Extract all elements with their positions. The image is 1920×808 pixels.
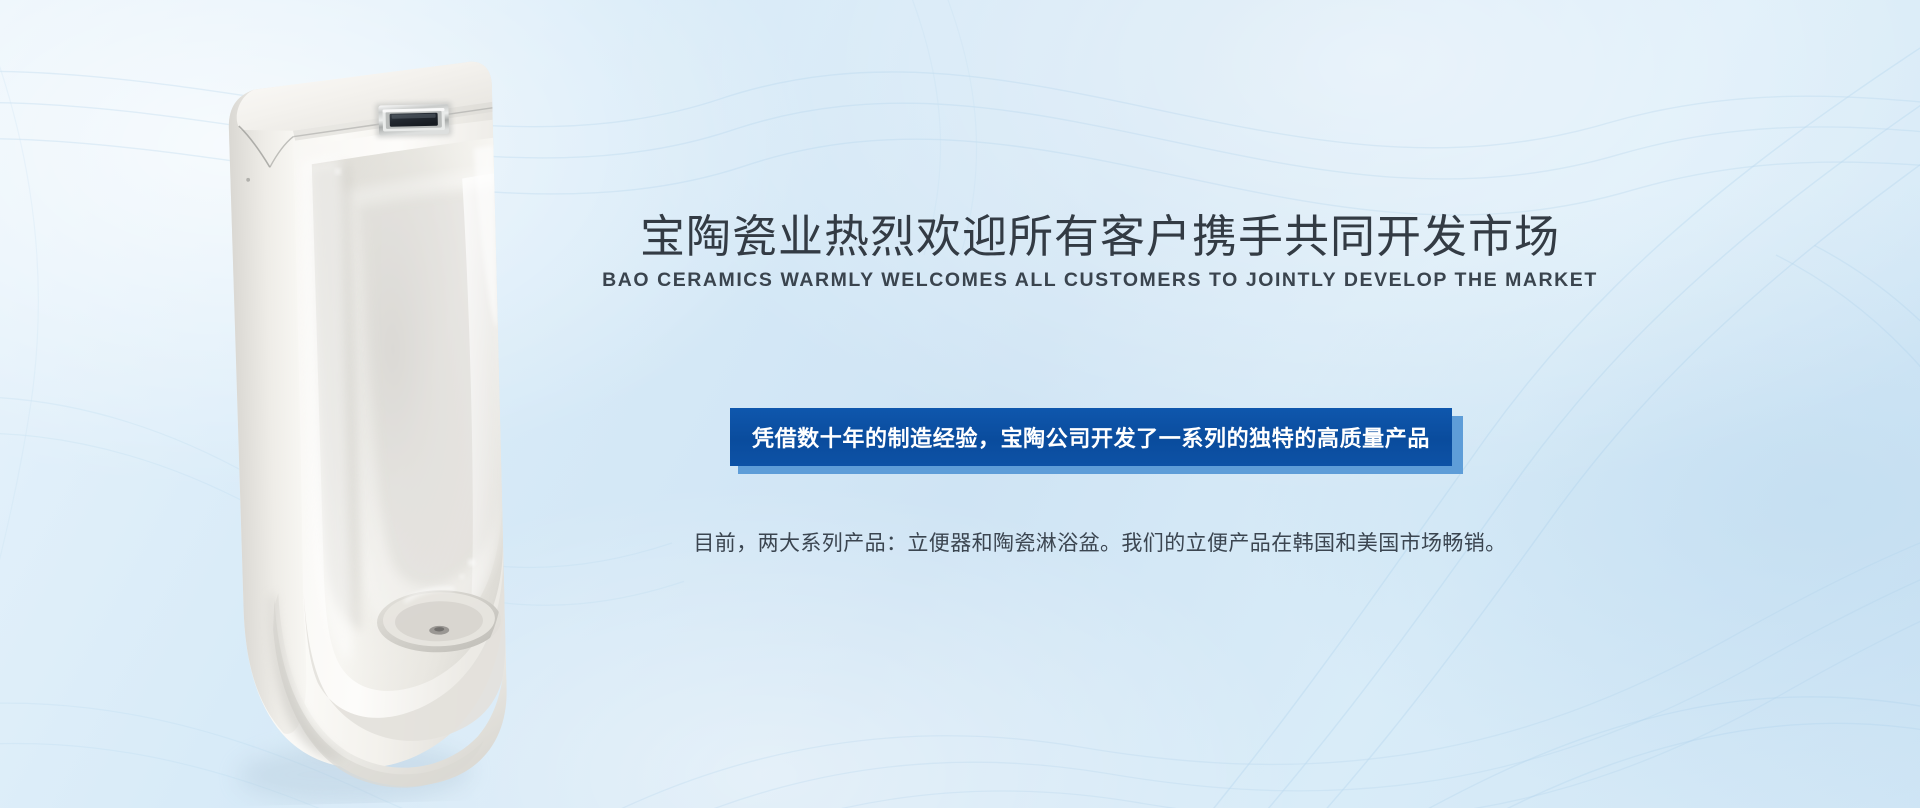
ribbon-label: 凭借数十年的制造经验，宝陶公司开发了一系列的独特的高质量产品 — [752, 421, 1430, 453]
highlight-ribbon: 凭借数十年的制造经验，宝陶公司开发了一系列的独特的高质量产品 — [730, 408, 1455, 470]
product-tagline: 目前，两大系列产品：立便器和陶瓷淋浴盆。我们的立便产品在韩国和美国市场畅销。 — [590, 527, 1610, 557]
product-image-urinal — [141, 28, 510, 808]
hero-banner: 宝陶瓷业热烈欢迎所有客户携手共同开发市场 BAO CERAMICS WARMLY… — [0, 0, 1920, 808]
chrome-sensor-group — [375, 102, 452, 138]
page-subtitle: BAO CERAMICS WARMLY WELCOMES ALL CUSTOME… — [590, 269, 1610, 292]
ribbon-panel: 凭借数十年的制造经验，宝陶公司开发了一系列的独特的高质量产品 — [730, 408, 1452, 466]
hero-copy-block: 宝陶瓷业热烈欢迎所有客户携手共同开发市场 BAO CERAMICS WARMLY… — [590, 0, 1690, 808]
page-title: 宝陶瓷业热烈欢迎所有客户携手共同开发市场 — [590, 210, 1610, 263]
